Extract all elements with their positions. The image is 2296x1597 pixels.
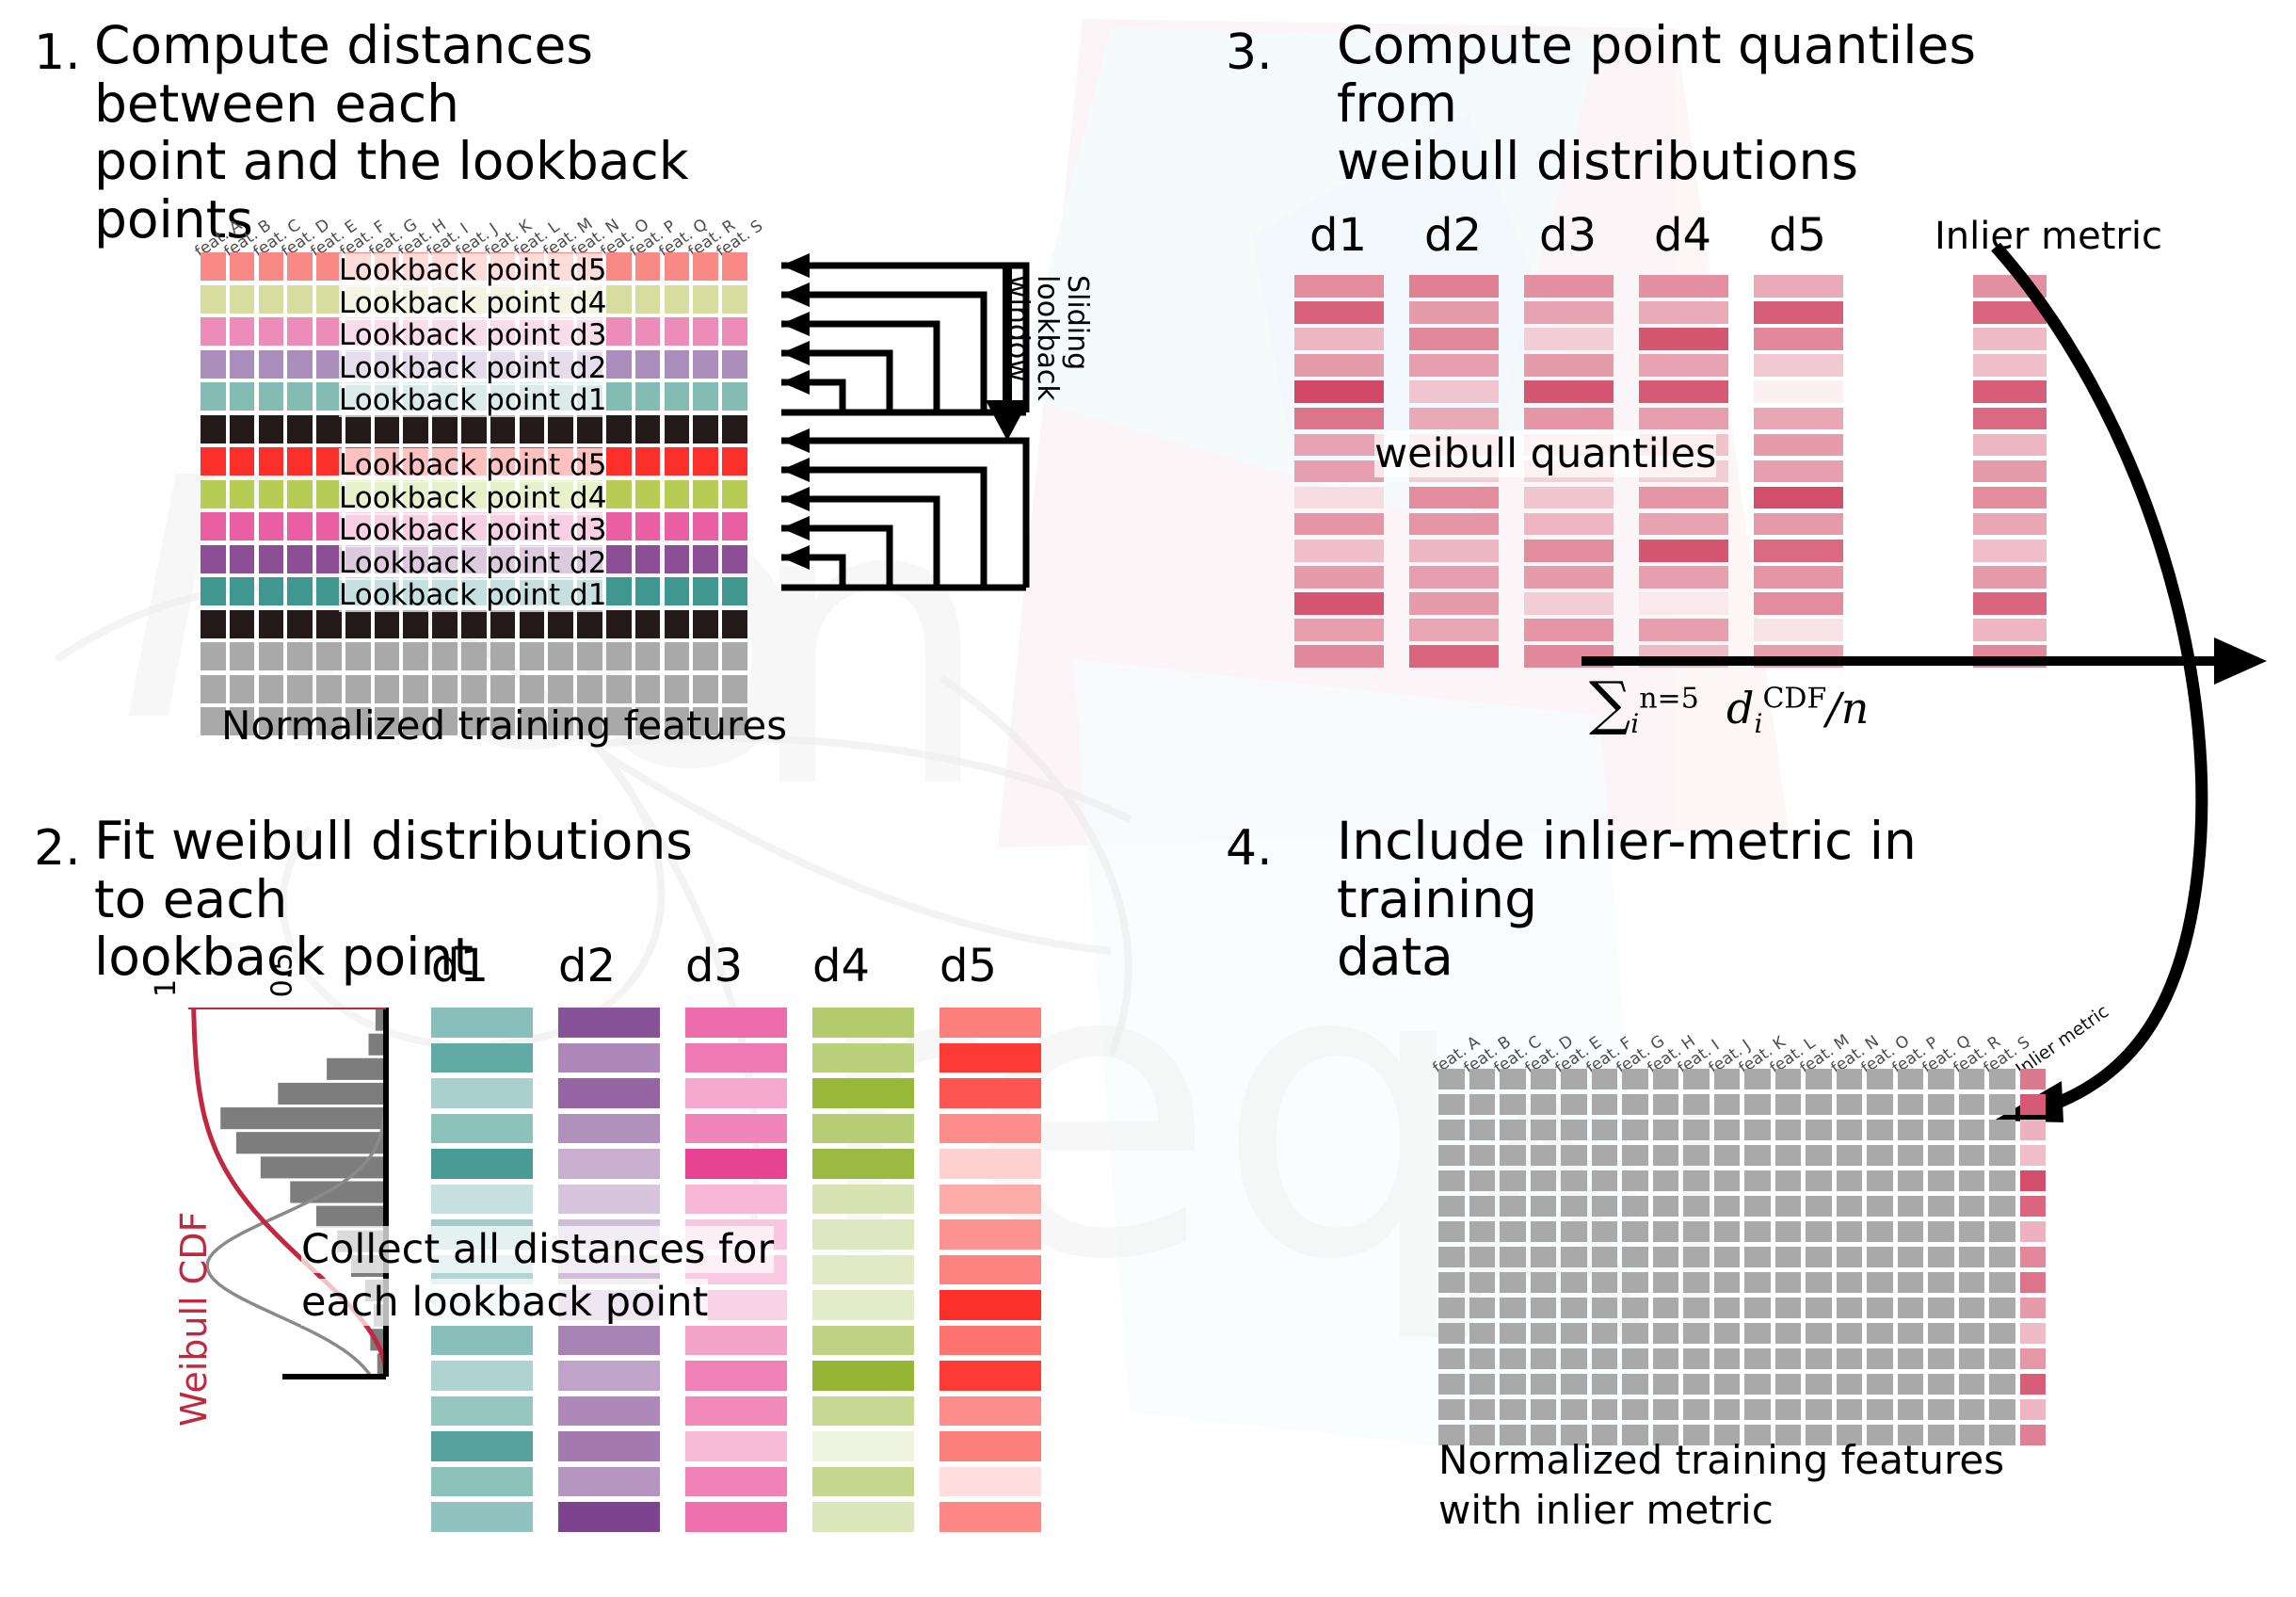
grid-cell xyxy=(1928,1094,1954,1115)
table-row xyxy=(1438,1348,2046,1369)
panel-2-column-header: d3 xyxy=(685,940,743,992)
inlier-metric-cell xyxy=(2020,1374,2047,1395)
panel-3-title: Compute point quantiles from weibull dis… xyxy=(1337,17,2071,191)
table-row xyxy=(201,415,751,444)
grid-cell xyxy=(1867,1221,1893,1242)
quantile-bar xyxy=(1754,328,1843,350)
distance-bar xyxy=(685,1326,787,1356)
grid-cell xyxy=(606,382,632,411)
grid-cell xyxy=(1531,1298,1557,1318)
lookback-point-label: Lookback point d3 xyxy=(339,513,606,547)
grid-cell xyxy=(520,415,545,444)
grid-cell xyxy=(1561,1196,1587,1217)
grid-cell xyxy=(1775,1298,1802,1318)
grid-cell xyxy=(1592,1196,1618,1217)
grid-cell xyxy=(201,545,226,573)
grid-cell xyxy=(1561,1323,1587,1344)
grid-cell xyxy=(1714,1069,1741,1089)
quantile-bar xyxy=(1754,487,1843,509)
quantile-bar xyxy=(1639,566,1728,589)
grid-cell xyxy=(548,610,573,638)
grid-cell xyxy=(316,577,342,605)
grid-cell xyxy=(230,350,255,379)
grid-cell xyxy=(1500,1069,1526,1089)
grid-cell xyxy=(1653,1399,1679,1420)
quantile-bar xyxy=(1294,619,1384,641)
grid-cell xyxy=(201,577,226,605)
distance-bar xyxy=(939,1078,1041,1108)
histogram-bar xyxy=(327,1058,386,1080)
grid-cell xyxy=(490,610,516,638)
grid-cell xyxy=(1928,1247,1954,1267)
panel-2-column-header: d2 xyxy=(558,940,616,992)
grid-cell xyxy=(1592,1348,1618,1369)
grid-cell xyxy=(1592,1145,1618,1166)
distance-bar xyxy=(939,1396,1041,1427)
grid-cell xyxy=(1775,1323,1802,1344)
grid-cell xyxy=(693,382,718,411)
grid-cell xyxy=(259,610,284,638)
distance-bar xyxy=(812,1008,914,1038)
grid-cell xyxy=(1989,1170,2015,1191)
weibull-cdf-legend-label: Weibull CDF xyxy=(173,1212,215,1427)
grid-cell xyxy=(1806,1323,1832,1344)
distance-bar xyxy=(431,1396,533,1427)
grid-cell xyxy=(316,610,342,638)
grid-cell xyxy=(1531,1348,1557,1369)
panel-1-step-number: 1. xyxy=(34,24,81,81)
grid-cell xyxy=(1561,1272,1587,1293)
grid-cell xyxy=(1622,1196,1648,1217)
grid-cell xyxy=(1775,1374,1802,1395)
grid-cell xyxy=(1500,1247,1526,1267)
grid-cell xyxy=(1561,1374,1587,1395)
grid-cell xyxy=(1898,1069,1924,1089)
table-row xyxy=(1438,1196,2046,1217)
grid-cell xyxy=(1989,1196,2015,1217)
grid-cell xyxy=(665,545,690,573)
grid-cell xyxy=(693,480,718,508)
inlier-metric-cell xyxy=(2020,1069,2047,1089)
distance-bar xyxy=(812,1396,914,1427)
quantile-bar xyxy=(1754,540,1843,562)
grid-cell xyxy=(1653,1374,1679,1395)
grid-cell xyxy=(201,447,226,476)
inlier-metric-cell xyxy=(2020,1425,2047,1445)
grid-cell xyxy=(1561,1170,1587,1191)
grid-cell xyxy=(606,642,632,670)
grid-cell xyxy=(1469,1069,1496,1089)
table-row xyxy=(1438,1120,2046,1140)
grid-cell xyxy=(1561,1247,1587,1267)
distance-bar xyxy=(812,1361,914,1391)
grid-cell xyxy=(1531,1221,1557,1242)
grid-cell xyxy=(722,675,747,703)
grid-cell xyxy=(1989,1247,2015,1267)
grid-cell xyxy=(606,317,632,346)
grid-cell xyxy=(287,480,313,508)
grid-cell xyxy=(1531,1272,1557,1293)
grid-cell xyxy=(1775,1247,1802,1267)
grid-cell xyxy=(1592,1170,1618,1191)
histogram-bar xyxy=(220,1107,386,1129)
grid-cell xyxy=(1469,1170,1496,1191)
grid-cell xyxy=(1989,1348,2015,1369)
distance-bar xyxy=(939,1502,1041,1532)
grid-cell xyxy=(1438,1323,1465,1344)
quantile-bar xyxy=(1754,592,1843,615)
distance-bar xyxy=(431,1326,533,1356)
lookback-point-label: Lookback point d4 xyxy=(339,286,606,320)
grid-cell xyxy=(259,350,284,379)
inlier-metric-cell xyxy=(2020,1298,2047,1318)
distance-bar xyxy=(685,1114,787,1144)
grid-cell xyxy=(665,675,690,703)
grid-cell xyxy=(1837,1196,1863,1217)
grid-cell xyxy=(1531,1323,1557,1344)
grid-cell xyxy=(548,415,573,444)
grid-cell xyxy=(1531,1399,1557,1420)
grid-cell xyxy=(461,642,487,670)
grid-cell xyxy=(1683,1170,1710,1191)
grid-cell xyxy=(1561,1298,1587,1318)
grid-cell xyxy=(230,285,255,314)
quantile-bar xyxy=(1754,301,1843,324)
distance-bar xyxy=(431,1043,533,1073)
panel-4-title: Include inlier-metric in training data xyxy=(1337,813,2080,987)
grid-cell xyxy=(1989,1094,2015,1115)
grid-cell xyxy=(1531,1094,1557,1115)
panel-2-column-header: d1 xyxy=(431,940,489,992)
grid-cell xyxy=(635,447,661,476)
grid-cell xyxy=(375,642,400,670)
grid-cell xyxy=(693,317,718,346)
distance-bar xyxy=(939,1431,1041,1461)
grid-cell xyxy=(1622,1298,1648,1318)
grid-cell xyxy=(1622,1094,1648,1115)
grid-cell xyxy=(316,285,342,314)
panel-2-title: Fit weibull distributions to each lookba… xyxy=(94,813,715,987)
distance-bar xyxy=(558,1467,660,1497)
distance-bar xyxy=(431,1008,533,1038)
grid-cell xyxy=(1714,1094,1741,1115)
grid-cell xyxy=(1714,1120,1741,1140)
grid-cell xyxy=(1989,1298,2015,1318)
grid-cell xyxy=(1714,1221,1741,1242)
distance-bar xyxy=(939,1255,1041,1285)
grid-cell xyxy=(548,675,573,703)
grid-cell xyxy=(693,350,718,379)
grid-cell xyxy=(635,480,661,508)
grid-cell xyxy=(287,382,313,411)
grid-cell xyxy=(490,415,516,444)
grid-cell xyxy=(201,350,226,379)
grid-cell xyxy=(1438,1348,1465,1369)
grid-cell xyxy=(1653,1069,1679,1089)
grid-cell xyxy=(259,675,284,703)
grid-cell xyxy=(1469,1348,1496,1369)
grid-cell xyxy=(1683,1374,1710,1395)
grid-cell xyxy=(1867,1094,1893,1115)
grid-cell xyxy=(665,512,690,540)
grid-cell xyxy=(1714,1374,1741,1395)
quantile-bar xyxy=(1409,328,1499,350)
grid-cell xyxy=(1867,1196,1893,1217)
distance-bar xyxy=(685,1008,787,1038)
grid-cell xyxy=(722,642,747,670)
quantile-bar xyxy=(1294,487,1384,509)
grid-cell xyxy=(635,610,661,638)
inlier-metric-cell xyxy=(2020,1323,2047,1344)
grid-cell xyxy=(316,512,342,540)
grid-cell xyxy=(1928,1323,1954,1344)
quantile-bar xyxy=(1754,408,1843,430)
lookback-point-label: Lookback point d1 xyxy=(339,383,606,417)
grid-cell xyxy=(1622,1170,1648,1191)
distance-bar xyxy=(685,1396,787,1427)
distance-bar xyxy=(558,1043,660,1073)
grid-cell xyxy=(1438,1120,1465,1140)
distance-bar xyxy=(939,1290,1041,1320)
panel-4: 4. Include inlier-metric in training dat… xyxy=(1205,796,2296,1597)
grid-cell xyxy=(1837,1272,1863,1293)
distance-bar xyxy=(685,1502,787,1532)
grid-cell xyxy=(635,675,661,703)
quantile-bar xyxy=(1524,354,1614,377)
grid-cell xyxy=(1683,1247,1710,1267)
grid-cell xyxy=(1928,1145,1954,1166)
grid-cell xyxy=(1867,1120,1893,1140)
grid-cell xyxy=(287,610,313,638)
grid-cell xyxy=(316,642,342,670)
grid-cell xyxy=(1714,1298,1741,1318)
grid-cell xyxy=(606,610,632,638)
grid-cell xyxy=(230,382,255,411)
grid-cell xyxy=(201,285,226,314)
distance-bar xyxy=(812,1255,914,1285)
grid-cell xyxy=(230,512,255,540)
grid-cell xyxy=(230,642,255,670)
grid-cell xyxy=(259,480,284,508)
grid-cell xyxy=(287,285,313,314)
grid-cell xyxy=(635,350,661,379)
grid-cell xyxy=(1714,1272,1741,1293)
grid-cell xyxy=(1683,1221,1710,1242)
grid-cell xyxy=(1775,1145,1802,1166)
grid-cell xyxy=(665,577,690,605)
grid-cell xyxy=(1959,1272,1985,1293)
grid-cell xyxy=(1714,1145,1741,1166)
grid-cell xyxy=(345,642,371,670)
grid-cell xyxy=(606,675,632,703)
distance-bar xyxy=(558,1326,660,1356)
grid-cell xyxy=(665,480,690,508)
grid-cell xyxy=(461,610,487,638)
grid-cell xyxy=(259,447,284,476)
panel-3-overlay-label: weibull quantiles xyxy=(1374,428,1716,481)
grid-cell xyxy=(1744,1348,1771,1369)
grid-cell xyxy=(1806,1094,1832,1115)
table-row xyxy=(1438,1069,2046,1089)
quantile-bar xyxy=(1524,513,1614,536)
quantile-bar xyxy=(1294,380,1384,403)
grid-cell xyxy=(230,480,255,508)
quantile-bar xyxy=(1409,487,1499,509)
grid-cell xyxy=(287,415,313,444)
distance-bar xyxy=(431,1149,533,1179)
distance-bar xyxy=(431,1114,533,1144)
grid-cell xyxy=(606,545,632,573)
grid-cell xyxy=(1714,1170,1741,1191)
distance-bar xyxy=(558,1078,660,1108)
distance-bar xyxy=(812,1043,914,1073)
quantile-bar xyxy=(1754,354,1843,377)
distance-bar xyxy=(939,1361,1041,1391)
grid-cell xyxy=(1867,1374,1893,1395)
grid-cell xyxy=(1775,1170,1802,1191)
panel-3-column-header: d2 xyxy=(1424,209,1482,262)
grid-cell xyxy=(1806,1170,1832,1191)
grid-cell xyxy=(1775,1399,1802,1420)
grid-cell xyxy=(1898,1170,1924,1191)
quantile-bar xyxy=(1524,408,1614,430)
grid-cell xyxy=(1469,1196,1496,1217)
distance-bar xyxy=(558,1114,660,1144)
grid-cell xyxy=(1744,1272,1771,1293)
grid-cell xyxy=(1653,1094,1679,1115)
grid-cell xyxy=(635,382,661,411)
grid-cell xyxy=(1469,1399,1496,1420)
grid-cell xyxy=(1898,1196,1924,1217)
grid-cell xyxy=(693,577,718,605)
grid-cell xyxy=(230,577,255,605)
grid-cell xyxy=(201,252,226,281)
grid-cell xyxy=(1898,1272,1924,1293)
grid-cell xyxy=(1744,1247,1771,1267)
quantile-bar xyxy=(1294,408,1384,430)
lookback-point-label: Lookback point d2 xyxy=(339,351,606,385)
grid-cell xyxy=(665,415,690,444)
grid-cell xyxy=(1683,1069,1710,1089)
distance-bar xyxy=(685,1185,787,1215)
grid-cell xyxy=(1959,1399,1985,1420)
grid-cell xyxy=(1837,1170,1863,1191)
quantile-bar xyxy=(1294,354,1384,377)
grid-cell xyxy=(287,545,313,573)
quantile-bar xyxy=(1294,513,1384,536)
grid-cell xyxy=(230,447,255,476)
hist-tick-0-5: 0.5 xyxy=(265,953,298,998)
grid-cell xyxy=(259,285,284,314)
grid-cell xyxy=(1653,1323,1679,1344)
grid-cell xyxy=(201,610,226,638)
grid-cell xyxy=(1714,1196,1741,1217)
distance-bar xyxy=(812,1502,914,1532)
lookback-point-label: Lookback point d1 xyxy=(339,578,606,612)
table-row xyxy=(201,610,751,638)
grid-cell xyxy=(1561,1399,1587,1420)
grid-cell xyxy=(1592,1247,1618,1267)
grid-cell xyxy=(1837,1399,1863,1420)
panel-1: 1. Compute distances between each point … xyxy=(0,0,1148,782)
quantile-bar xyxy=(1524,540,1614,562)
grid-cell xyxy=(1837,1298,1863,1318)
grid-cell xyxy=(1898,1323,1924,1344)
table-row xyxy=(1438,1221,2046,1242)
grid-cell xyxy=(635,252,661,281)
grid-cell xyxy=(1867,1348,1893,1369)
grid-cell xyxy=(230,610,255,638)
quantile-bar xyxy=(1409,301,1499,324)
grid-cell xyxy=(606,480,632,508)
grid-cell xyxy=(230,317,255,346)
quantile-bar xyxy=(1639,592,1728,615)
grid-cell xyxy=(1959,1094,1985,1115)
quantile-bar xyxy=(1639,408,1728,430)
grid-cell xyxy=(1928,1120,1954,1140)
grid-cell xyxy=(635,577,661,605)
grid-cell xyxy=(1959,1374,1985,1395)
grid-cell xyxy=(403,610,428,638)
grid-cell xyxy=(1867,1399,1893,1420)
quantile-bar xyxy=(1409,275,1499,298)
grid-cell xyxy=(259,317,284,346)
grid-cell xyxy=(316,480,342,508)
grid-cell xyxy=(1806,1272,1832,1293)
grid-cell xyxy=(1714,1323,1741,1344)
grid-cell xyxy=(1806,1120,1832,1140)
grid-cell xyxy=(1898,1221,1924,1242)
grid-cell xyxy=(1744,1221,1771,1242)
grid-cell xyxy=(1561,1145,1587,1166)
grid-cell xyxy=(1653,1348,1679,1369)
panel-3-column-header: d5 xyxy=(1769,209,1826,262)
grid-cell xyxy=(1837,1323,1863,1344)
grid-cell xyxy=(1775,1120,1802,1140)
grid-cell xyxy=(375,610,400,638)
grid-cell xyxy=(1959,1348,1985,1369)
distance-bar xyxy=(939,1114,1041,1144)
table-row xyxy=(1438,1094,2046,1115)
distance-bar xyxy=(812,1467,914,1497)
quantile-bar xyxy=(1754,434,1843,457)
distance-bar xyxy=(558,1431,660,1461)
quantile-bar xyxy=(1294,301,1384,324)
grid-cell xyxy=(1531,1374,1557,1395)
grid-cell xyxy=(490,675,516,703)
grid-cell xyxy=(1653,1196,1679,1217)
inlier-metric-cell xyxy=(2020,1170,2047,1191)
grid-cell xyxy=(606,285,632,314)
quantile-bar xyxy=(1639,328,1728,350)
grid-cell xyxy=(432,610,458,638)
grid-cell xyxy=(230,252,255,281)
grid-cell xyxy=(1438,1221,1465,1242)
quantile-bar xyxy=(1409,566,1499,589)
distance-bar xyxy=(812,1431,914,1461)
quantile-bar xyxy=(1294,460,1384,483)
lookback-point-label: Lookback point d4 xyxy=(339,481,606,515)
grid-cell xyxy=(345,675,371,703)
panel-3-step-number: 3. xyxy=(1226,24,1273,81)
grid-cell xyxy=(1928,1298,1954,1318)
grid-cell xyxy=(1989,1374,2015,1395)
grid-cell xyxy=(1469,1145,1496,1166)
distance-bar xyxy=(558,1396,660,1427)
distance-bar xyxy=(812,1185,914,1215)
grid-cell xyxy=(1469,1094,1496,1115)
grid-cell xyxy=(1561,1069,1587,1089)
